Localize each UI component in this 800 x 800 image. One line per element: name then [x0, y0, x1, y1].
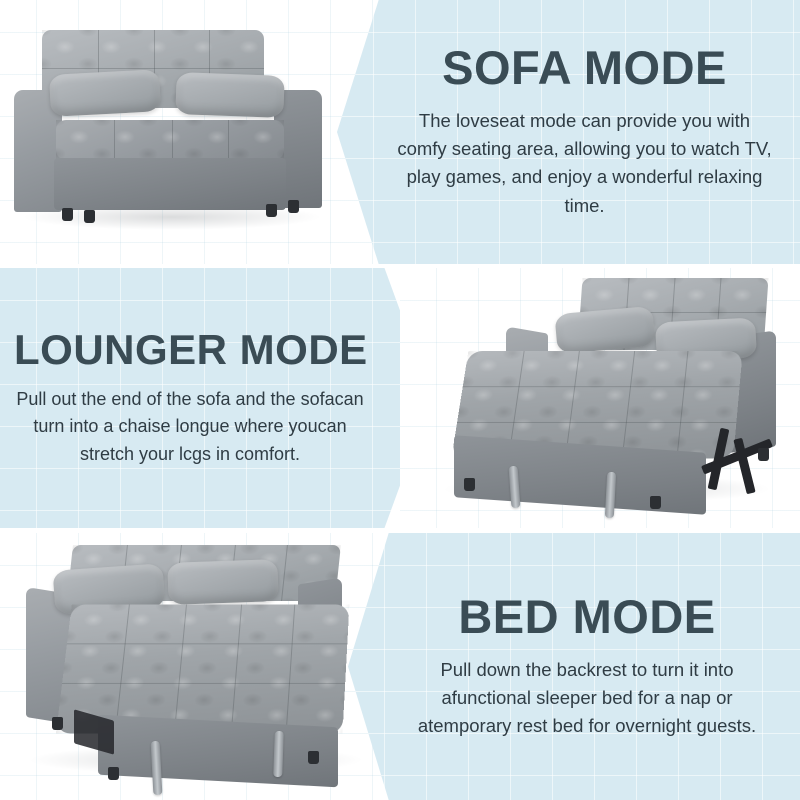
bed-pullout-base	[98, 715, 338, 788]
seat-tufting	[56, 120, 284, 160]
sofa-pillow-left	[49, 69, 161, 117]
lounger-mode-heading: LOUNGER MODE	[14, 328, 366, 372]
pull-strap	[273, 731, 284, 777]
sofa-modes-infographic: SOFA MODE The loveseat mode can provide …	[0, 0, 800, 800]
sofa-pillow-right	[175, 72, 284, 118]
pull-strap	[605, 472, 616, 518]
sofa-mode-heading: SOFA MODE	[395, 44, 774, 93]
bed-mode-text-panel: BED MODE Pull down the backrest to turn …	[348, 533, 800, 800]
loveseat-illustration	[14, 28, 334, 238]
sofa-foot	[52, 717, 63, 730]
lounger-mode-text-panel: LOUNGER MODE Pull out the end of the sof…	[0, 268, 432, 528]
sofa-seat-cushion	[56, 120, 284, 160]
panel-row-lounger: LOUNGER MODE Pull out the end of the sof…	[0, 268, 800, 528]
panel-row-bed: BED MODE Pull down the backrest to turn …	[0, 533, 800, 800]
sofa-foot	[108, 767, 119, 780]
bed-mode-heading: BED MODE	[400, 593, 774, 642]
sofa-foot	[308, 751, 319, 764]
lounger-mode-description: Pull out the end of the sofa and the sof…	[14, 386, 366, 468]
sofa-mode-description: The loveseat mode can provide you with c…	[395, 107, 774, 219]
lounger-illustration	[428, 278, 796, 518]
lounger-pillow-left	[554, 306, 655, 354]
bed-mode-photo	[0, 533, 400, 800]
sofa-foot	[288, 200, 299, 213]
sofa-foot	[464, 478, 475, 491]
lounger-mode-photo	[400, 268, 800, 528]
bed-illustration	[12, 545, 384, 787]
sofa-foot	[84, 210, 95, 223]
sofa-foot	[62, 208, 73, 221]
sofa-foot	[758, 448, 769, 461]
sofa-foot	[266, 204, 277, 217]
bed-mode-description: Pull down the backrest to turn it into a…	[400, 656, 774, 740]
sofa-mode-text-panel: SOFA MODE The loveseat mode can provide …	[337, 0, 800, 264]
sofa-base	[54, 158, 286, 210]
bed-pillow-right	[167, 559, 278, 605]
panel-row-sofa: SOFA MODE The loveseat mode can provide …	[0, 0, 800, 264]
sofa-foot	[650, 496, 661, 509]
